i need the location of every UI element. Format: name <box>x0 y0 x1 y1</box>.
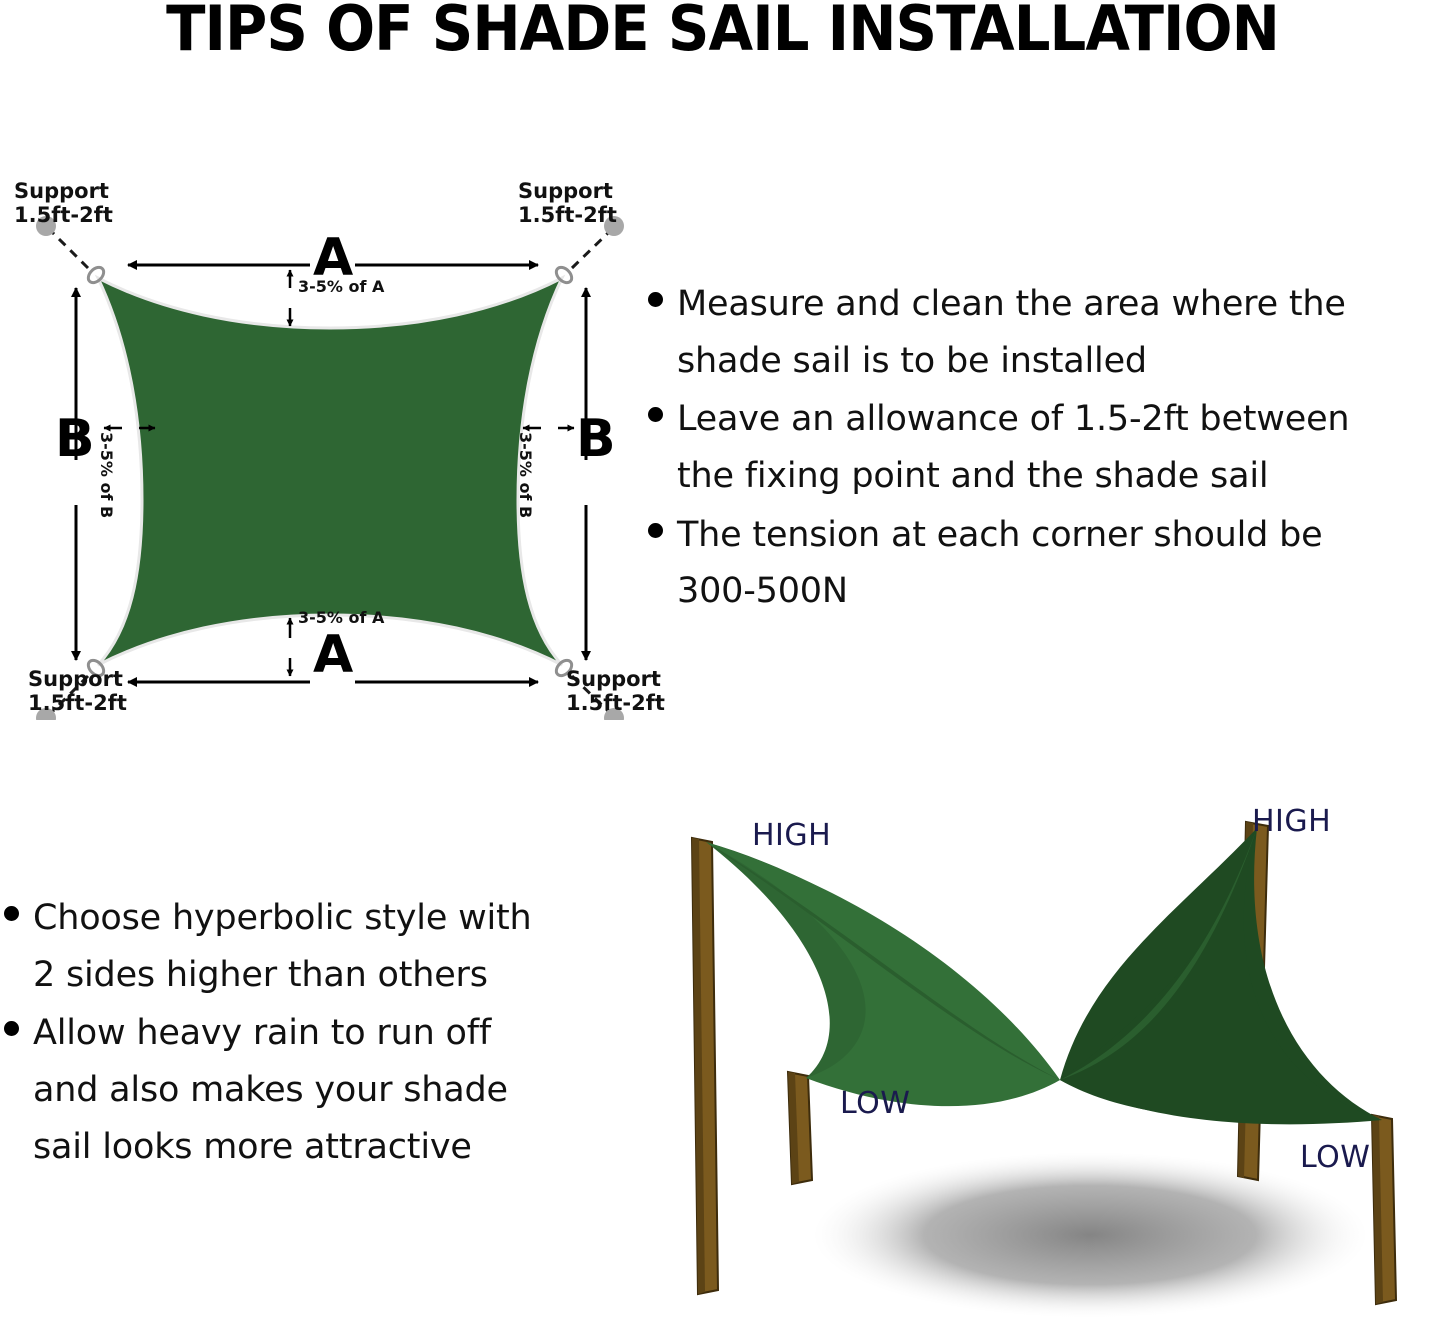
list-item: Allow heavy rain to run off and also mak… <box>4 1005 624 1175</box>
installation-tips-list: Measure and clean the area where the sha… <box>648 276 1445 622</box>
list-item-text: Allow heavy rain to run off and also mak… <box>33 1005 508 1175</box>
bullet-icon <box>648 523 663 538</box>
label-low-right: LOW <box>1300 1140 1370 1175</box>
label-low-left: LOW <box>840 1086 910 1121</box>
list-item: The tension at each corner should be 300… <box>648 507 1445 620</box>
label-high-right: HIGH <box>1252 804 1331 839</box>
dimension-letter-b-left: B <box>55 413 95 465</box>
list-item: Measure and clean the area where the sha… <box>648 276 1445 389</box>
post-low-left <box>788 1072 812 1184</box>
list-item-text: Measure and clean the area where the sha… <box>677 276 1346 389</box>
support-label-bottom-right: Support 1.5ft-2ft <box>566 668 665 715</box>
list-item-text: The tension at each corner should be 300… <box>677 507 1322 620</box>
post-low-right <box>1372 1115 1396 1304</box>
ground-shadow <box>815 1153 1365 1317</box>
hyperbolic-style-tips-list: Choose hyperbolic style with 2 sides hig… <box>4 890 624 1177</box>
hyperbolic-sail-diagram <box>660 780 1445 1319</box>
dimension-letter-a-bottom: A <box>313 629 353 681</box>
bullet-icon <box>4 1021 19 1036</box>
post-high-left <box>692 838 718 1294</box>
label-high-left: HIGH <box>752 818 831 853</box>
sail-shape <box>98 278 562 665</box>
bullet-icon <box>648 407 663 422</box>
infographic-page: TIPS OF SHADE SAIL INSTALLATION <box>0 0 1445 1319</box>
curve-label-right: 3-5% of B <box>516 432 535 518</box>
support-label-top-right: Support 1.5ft-2ft <box>518 180 617 227</box>
list-item: Leave an allowance of 1.5-2ft between th… <box>648 391 1445 504</box>
page-title: TIPS OF SHADE SAIL INSTALLATION <box>51 0 1395 61</box>
curve-label-top: 3-5% of A <box>298 277 384 296</box>
support-label-bottom-left: Support 1.5ft-2ft <box>28 668 127 715</box>
bullet-icon <box>4 906 19 921</box>
bullet-icon <box>648 292 663 307</box>
list-item: Choose hyperbolic style with 2 sides hig… <box>4 890 624 1003</box>
curve-label-left: 3-5% of B <box>97 432 116 518</box>
dimension-letter-b-right: B <box>576 413 616 465</box>
list-item-text: Choose hyperbolic style with 2 sides hig… <box>33 890 532 1003</box>
curve-label-bottom: 3-5% of A <box>298 608 384 627</box>
support-label-top-left: Support 1.5ft-2ft <box>14 180 113 227</box>
list-item-text: Leave an allowance of 1.5-2ft between th… <box>677 391 1349 504</box>
